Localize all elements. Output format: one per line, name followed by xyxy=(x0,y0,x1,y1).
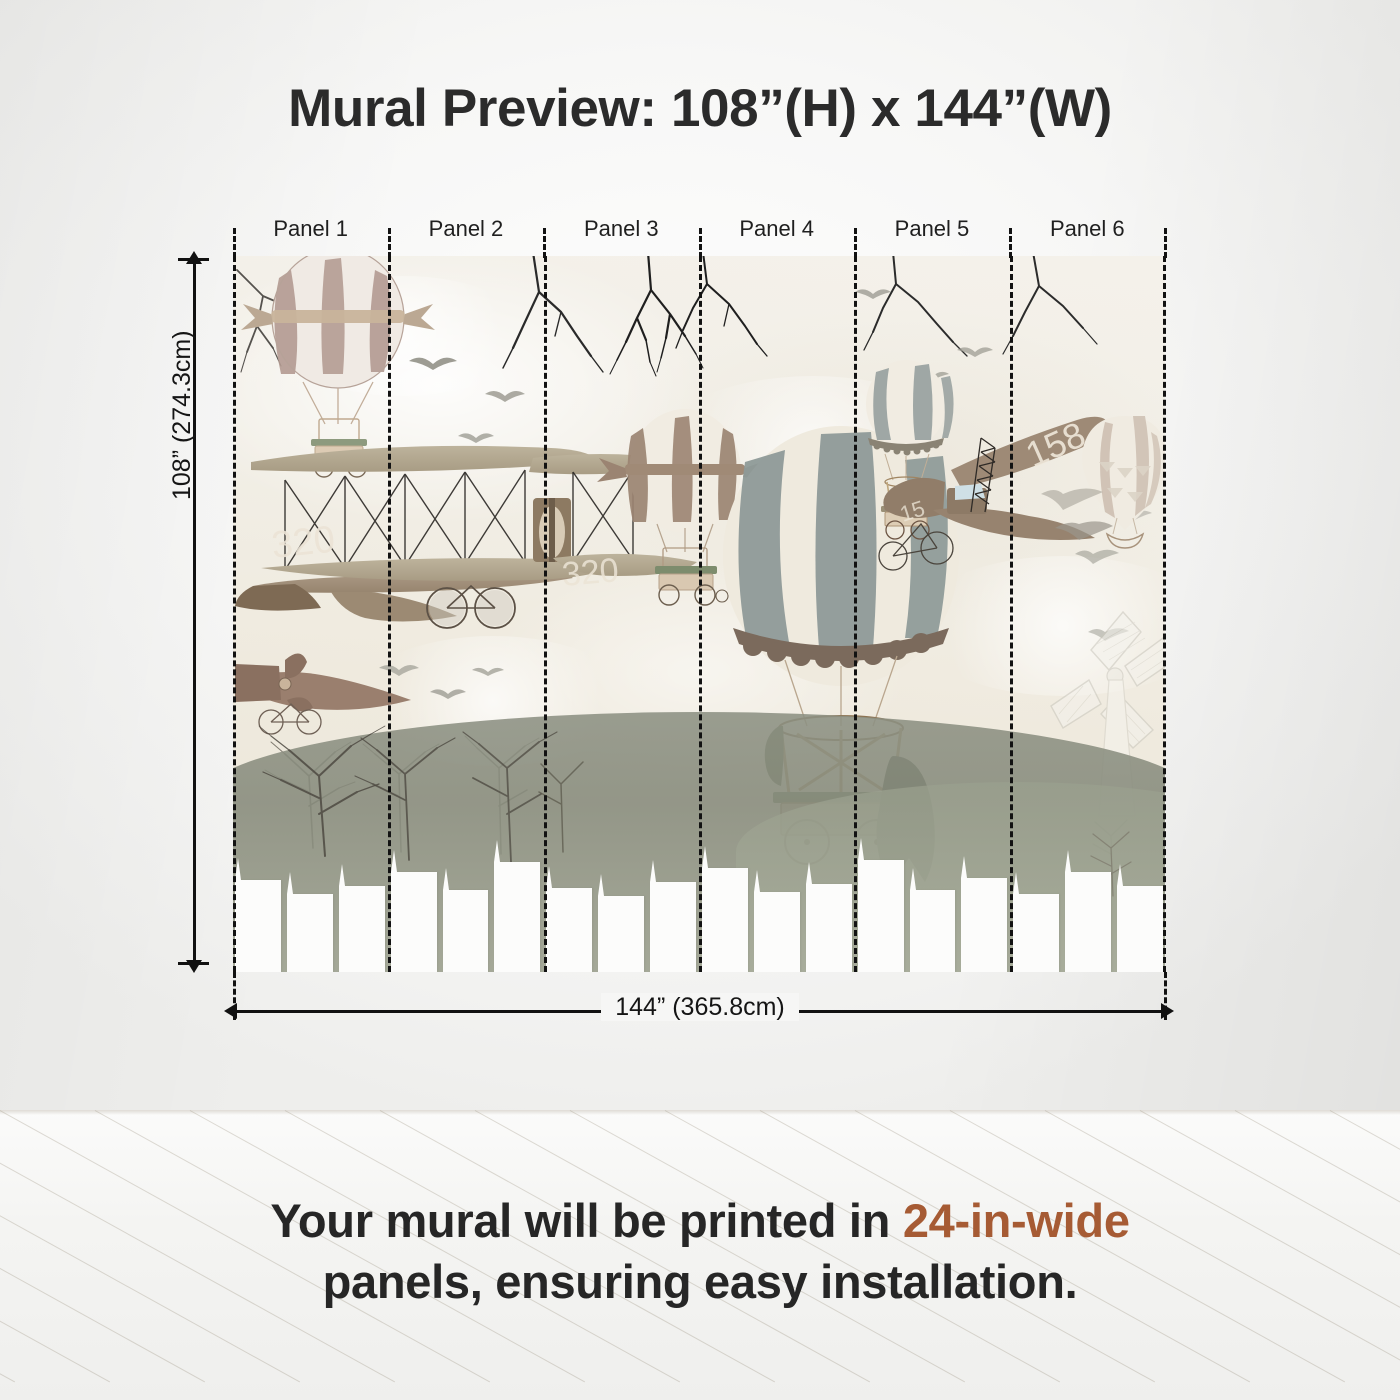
fence-picket xyxy=(806,884,852,972)
height-dimension-label: 108” (274.3cm) xyxy=(168,330,197,500)
panel-label-5: Panel 5 xyxy=(854,212,1009,246)
panel-label-6: Panel 6 xyxy=(1010,212,1165,246)
panel-label-4: Panel 4 xyxy=(699,212,854,246)
panel-tick-top-3 xyxy=(699,228,702,258)
fence-picket xyxy=(1117,886,1163,972)
fence-picket xyxy=(339,886,385,972)
width-dimension-label: 144” (365.8cm) xyxy=(601,993,799,1021)
caption-line-1: Your mural will be printed in 24-in-wide xyxy=(0,1190,1400,1251)
fence-picket xyxy=(858,860,904,972)
mural-preview: 320 320 xyxy=(233,256,1165,972)
panel-tick-top-4 xyxy=(854,228,857,258)
caption-line-2: panels, ensuring easy installation. xyxy=(0,1251,1400,1312)
caption-prefix: Your mural will be printed in xyxy=(270,1194,903,1247)
fence-picket xyxy=(598,896,644,972)
panel-tick-top-2 xyxy=(543,228,546,258)
mural-artwork: 320 320 xyxy=(233,256,1165,972)
panel-tick-top-1 xyxy=(388,228,391,258)
fence-picket xyxy=(494,862,540,972)
fence-picket xyxy=(443,890,489,972)
fence-picket xyxy=(910,890,956,972)
fence-picket xyxy=(546,888,592,972)
height-tick-bottom xyxy=(178,962,209,965)
footer-caption: Your mural will be printed in 24-in-wide… xyxy=(0,1190,1400,1312)
width-dimension-label-wrap: 144” (365.8cm) xyxy=(0,993,1400,1022)
height-tick-top xyxy=(178,258,209,261)
fence-picket xyxy=(961,878,1007,972)
caption-highlight: 24-in-wide xyxy=(903,1194,1130,1247)
panel-label-2: Panel 2 xyxy=(388,212,543,246)
fence-picket xyxy=(650,882,696,972)
fence-picket xyxy=(1013,894,1059,972)
fence-picket xyxy=(391,872,437,972)
panel-tick-top-5 xyxy=(1009,228,1012,258)
fence-picket xyxy=(287,894,333,972)
panel-label-3: Panel 3 xyxy=(544,212,699,246)
panel-label-1: Panel 1 xyxy=(233,212,388,246)
panel-tick-top-6 xyxy=(1164,228,1167,258)
picket-fence xyxy=(233,822,1165,972)
fence-picket xyxy=(754,892,800,972)
fence-picket xyxy=(235,880,281,972)
panel-tick-top-0 xyxy=(233,228,236,258)
fence-picket xyxy=(1065,872,1111,972)
fence-picket xyxy=(702,868,748,972)
page-title: Mural Preview: 108”(H) x 144”(W) xyxy=(0,78,1400,139)
